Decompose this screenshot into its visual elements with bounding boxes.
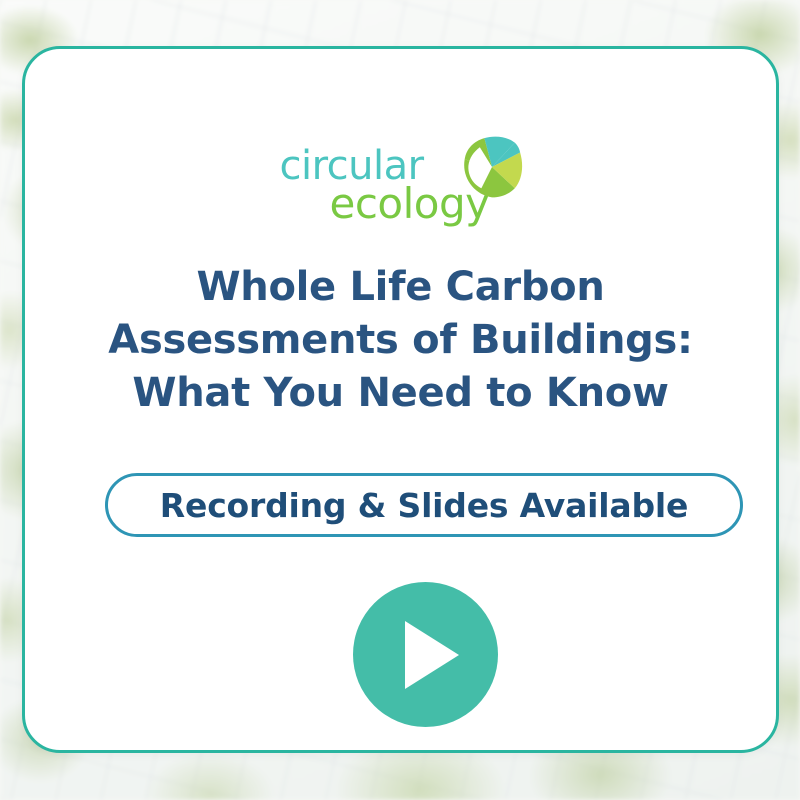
promo-graphic: circular ecology Whole Life Carb <box>0 0 800 800</box>
availability-badge[interactable]: Recording & Slides Available <box>105 473 743 537</box>
page-title: Whole Life Carbon Assessments of Buildin… <box>85 261 716 420</box>
circular-ecology-leaf-mark-icon <box>454 129 530 205</box>
brand-wordmark: circular ecology <box>276 129 526 237</box>
headline-line-3: What You Need to Know <box>85 367 716 420</box>
headline-line-2: Assessments of Buildings: <box>85 314 716 367</box>
content-card: circular ecology Whole Life Carb <box>22 46 779 753</box>
brand-logo[interactable]: circular ecology <box>25 129 776 239</box>
headline-line-1: Whole Life Carbon <box>85 261 716 314</box>
play-button[interactable] <box>353 582 498 727</box>
availability-badge-label: Recording & Slides Available <box>160 486 688 525</box>
play-triangle-icon <box>405 621 459 689</box>
